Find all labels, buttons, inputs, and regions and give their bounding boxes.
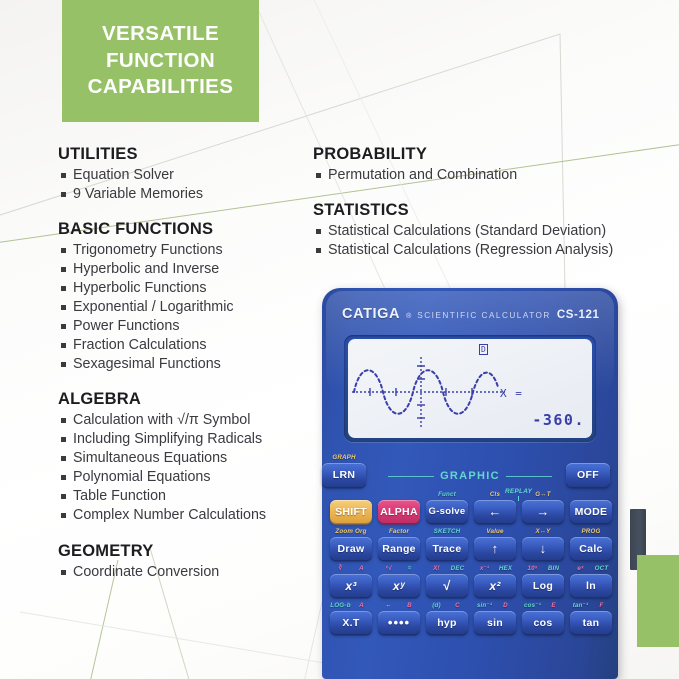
key-off-label: OFF — [577, 469, 599, 481]
dots-icon: •••• — [388, 616, 410, 629]
key-cursor-pad[interactable]: ←B •••• — [378, 611, 420, 634]
feature-item: Statistical Calculations (Standard Devia… — [313, 223, 673, 240]
feature-item: Permutation and Combination — [313, 167, 673, 184]
feature-column-right: PROBABILITY Permutation and Combination … — [313, 145, 673, 261]
feature-item: Including Simplifying Radicals — [58, 431, 308, 448]
bullet-icon — [61, 286, 66, 291]
key-oct-alpha-label: OCT — [591, 565, 612, 572]
key-sin-label: sin — [487, 617, 503, 629]
feature-item: Polynomial Equations — [58, 469, 308, 486]
key-log[interactable]: 10ˣBIN Log — [522, 574, 564, 597]
title-line-3: CAPABILITIES — [88, 74, 234, 101]
key-square-root[interactable]: X!DEC √ — [426, 574, 468, 597]
key-hyp[interactable]: (d)C hyp — [426, 611, 468, 634]
key-range-label: Range — [382, 543, 416, 555]
feature-item: Calculation with √/π Symbol — [58, 412, 308, 429]
bullet-icon — [61, 248, 66, 253]
bullet-icon — [61, 475, 66, 480]
calculator-product-photo: CATIGA ® SCIENTIFIC CALCULATOR CS-121 D … — [322, 288, 630, 679]
feature-label: Statistical Calculations (Standard Devia… — [328, 223, 606, 240]
bullet-icon — [61, 513, 66, 518]
brand-name: CATIGA — [342, 306, 400, 322]
feature-label: Sexagesimal Functions — [73, 356, 221, 373]
feature-label: Exponential / Logarithmic — [73, 299, 234, 316]
key-x-squared[interactable]: x⁻¹HEX x² — [474, 574, 516, 597]
key-lrn-shift-label: GRAPH — [322, 454, 366, 461]
key-ln-label: ln — [586, 580, 596, 592]
bullet-icon — [316, 229, 321, 234]
key-sin[interactable]: sin⁻¹D sin — [474, 611, 516, 634]
feature-item: Hyperbolic and Inverse — [58, 261, 308, 278]
feature-label: Coordinate Conversion — [73, 564, 219, 581]
feature-item: Coordinate Conversion — [58, 564, 308, 581]
feature-label: Equation Solver — [73, 167, 174, 184]
key-f-alpha-label: F — [591, 602, 612, 609]
key-back-shift-label: ← — [378, 602, 399, 609]
replay-label: REPLAY — [505, 488, 532, 495]
feature-label: Statistical Calculations (Regression Ana… — [328, 242, 613, 259]
key-shift[interactable]: SHIFT — [330, 500, 372, 523]
key-d-paren-shift-label: (d) — [426, 602, 447, 609]
key-mode[interactable]: MODE — [570, 500, 612, 523]
bullet-icon — [61, 343, 66, 348]
brand-row: CATIGA ® SCIENTIFIC CALCULATOR CS-121 — [342, 306, 599, 322]
key-reciprocal-shift-label: x⁻¹ — [474, 565, 495, 572]
section-statistics: STATISTICS Statistical Calculations (Sta… — [313, 201, 673, 259]
bullet-icon — [316, 173, 321, 178]
key-a-alpha-label: A — [351, 602, 372, 609]
feature-label: Hyperbolic Functions — [73, 280, 207, 297]
key-arcsin-shift-label: sin⁻¹ — [474, 602, 495, 609]
key-cos-label: cos — [534, 617, 553, 629]
feature-item: Exponential / Logarithmic — [58, 299, 308, 316]
feature-label: Hyperbolic and Inverse — [73, 261, 219, 278]
feature-item: Trigonometry Functions — [58, 242, 308, 259]
feature-item: Power Functions — [58, 318, 308, 335]
key-e-alpha-label: E — [543, 602, 564, 609]
bullet-icon — [61, 173, 66, 178]
key-x-power-y-label: xʸ — [393, 579, 405, 593]
feature-label: Calculation with √/π Symbol — [73, 412, 250, 429]
feature-item: Equation Solver — [58, 167, 308, 184]
feature-label: Fraction Calculations — [73, 337, 207, 354]
arrow-down-icon: ↓ — [540, 542, 547, 555]
key-g-solve-label: G-solve — [429, 506, 466, 517]
feature-item: Hyperbolic Functions — [58, 280, 308, 297]
feature-item: Simultaneous Equations — [58, 450, 308, 467]
poster-canvas: VERSATILE FUNCTION CAPABILITIES UTILITIE… — [0, 0, 679, 679]
key-d-alpha-label: D — [495, 602, 516, 609]
green-accent-block — [637, 555, 679, 647]
key-ln[interactable]: eˣOCT ln — [570, 574, 612, 597]
feature-label: Permutation and Combination — [328, 167, 517, 184]
key-xy-shift-label: X↔Y — [522, 528, 564, 535]
key-square-root-label: √ — [443, 578, 450, 593]
key-mode-label: MODE — [575, 506, 608, 518]
key-x-cubed-label: x³ — [345, 579, 356, 593]
section-probability: PROBABILITY Permutation and Combination — [313, 145, 673, 184]
keypad-row-1: GRAPH LRN OFF — [322, 463, 618, 489]
key-x-cubed[interactable]: ∛A x³ — [330, 574, 372, 597]
lcd-display[interactable]: D X = -360. — [348, 339, 592, 438]
key-range[interactable]: Factor Range — [378, 537, 420, 560]
key-x-t-label: X.T — [342, 617, 359, 629]
key-bin-alpha-label: BIN — [543, 565, 564, 572]
key-off[interactable]: OFF — [566, 463, 610, 487]
section-heading: STATISTICS — [313, 201, 673, 220]
key-g-solve[interactable]: Funct G-solve — [426, 500, 468, 523]
key-xroot-shift-label: ˣ√ — [378, 565, 399, 572]
bullet-icon — [61, 362, 66, 367]
arrow-left-icon: ← — [488, 505, 501, 518]
registered-trademark-icon: ® — [406, 313, 411, 320]
key-arrow-right[interactable]: G↔T → — [522, 500, 564, 523]
key-factorial-shift-label: X! — [426, 565, 447, 572]
key-cos[interactable]: cos⁻¹E cos — [522, 611, 564, 634]
key-x-t[interactable]: LOG▫bA X.T — [330, 611, 372, 634]
brand-subtitle: SCIENTIFIC CALCULATOR — [417, 311, 551, 320]
key-a-alpha-label: A — [351, 565, 372, 572]
bullet-icon — [316, 248, 321, 253]
key-b-alpha-label: B — [399, 602, 420, 609]
keypad-row-3: Zoom Org Draw Factor Range SKETCH Trace … — [322, 537, 618, 563]
key-e-power-shift-label: eˣ — [570, 565, 591, 572]
key-ten-power-shift-label: 10ˣ — [522, 565, 543, 572]
key-sketch-shift-label: SKETCH — [426, 528, 468, 535]
key-dec-alpha-label: DEC — [447, 565, 468, 572]
lcd-value: -360. — [532, 411, 585, 429]
feature-label: Simultaneous Equations — [73, 450, 227, 467]
feature-item: 9 Variable Memories — [58, 186, 308, 203]
section-heading: BASIC FUNCTIONS — [58, 220, 308, 239]
feature-label: Including Simplifying Radicals — [73, 431, 262, 448]
bullet-icon — [61, 305, 66, 310]
feature-label: Table Function — [73, 488, 166, 505]
feature-item: Sexagesimal Functions — [58, 356, 308, 373]
section-algebra: ALGEBRA Calculation with √/π Symbol Incl… — [58, 390, 308, 524]
lcd-bezel: D X = -360. — [344, 335, 596, 442]
bullet-icon — [61, 418, 66, 423]
feature-item: Fraction Calculations — [58, 337, 308, 354]
feature-item: Table Function — [58, 488, 308, 505]
key-arrow-up[interactable]: Value ↑ — [474, 537, 516, 560]
keypad-row-5: LOG▫bA X.T ←B •••• (d)C hyp sin⁻¹D sin c… — [322, 611, 618, 637]
key-draw[interactable]: Zoom Org Draw — [330, 537, 372, 560]
key-calc[interactable]: PROG Calc — [570, 537, 612, 560]
model-number: CS-121 — [557, 309, 600, 321]
key-arctan-shift-label: tan⁻¹ — [570, 602, 591, 609]
feature-label: Complex Number Calculations — [73, 507, 266, 524]
bullet-icon — [61, 494, 66, 499]
arrow-right-icon: → — [536, 505, 549, 518]
key-x-power-y[interactable]: ˣ√= xʸ — [378, 574, 420, 597]
bullet-icon — [61, 570, 66, 575]
section-heading: ALGEBRA — [58, 390, 308, 409]
key-draw-label: Draw — [338, 543, 365, 555]
replay-pointer-icon — [518, 496, 519, 501]
title-line-1: VERSATILE — [88, 21, 234, 48]
page-title: VERSATILE FUNCTION CAPABILITIES — [80, 21, 242, 101]
section-geometry: GEOMETRY Coordinate Conversion — [58, 542, 308, 581]
key-alpha-label: ALPHA — [380, 506, 418, 518]
key-prog-shift-label: PROG — [570, 528, 612, 535]
bullet-icon — [61, 437, 66, 442]
key-trace[interactable]: SKETCH Trace — [426, 537, 468, 560]
feature-column-left: UTILITIES Equation Solver 9 Variable Mem… — [58, 145, 308, 583]
title-line-2: FUNCTION — [88, 48, 234, 75]
key-trace-label: Trace — [433, 543, 462, 555]
title-banner: VERSATILE FUNCTION CAPABILITIES — [62, 0, 259, 122]
key-x-squared-label: x² — [489, 579, 500, 593]
bullet-icon — [61, 324, 66, 329]
bullet-icon — [61, 192, 66, 197]
key-arrow-left[interactable]: Cls ← — [474, 500, 516, 523]
key-arrow-down[interactable]: X↔Y ↓ — [522, 537, 564, 560]
key-shift-label: SHIFT — [335, 506, 367, 518]
key-lrn-label: LRN — [333, 469, 355, 481]
feature-item: Statistical Calculations (Regression Ana… — [313, 242, 673, 259]
bullet-icon — [61, 456, 66, 461]
key-range-shift-label: Factor — [378, 528, 420, 535]
key-hyp-label: hyp — [437, 617, 457, 629]
key-lrn[interactable]: GRAPH LRN — [322, 463, 366, 487]
key-calc-label: Calc — [579, 543, 602, 555]
key-equals-alpha-label: = — [399, 565, 420, 572]
keypad-row-4: ∛A x³ ˣ√= xʸ X!DEC √ x⁻¹HEX x² 10ˣBIN Lo… — [322, 574, 618, 600]
section-heading: UTILITIES — [58, 145, 308, 164]
key-g-solve-shift-label: Funct — [426, 491, 468, 498]
key-cuberoot-shift-label: ∛ — [330, 565, 351, 572]
key-hex-alpha-label: HEX — [495, 565, 516, 572]
feature-label: Polynomial Equations — [73, 469, 211, 486]
feature-label: Power Functions — [73, 318, 179, 335]
key-log-label: Log — [533, 580, 553, 592]
key-tan[interactable]: tan⁻¹F tan — [570, 611, 612, 634]
section-heading: PROBABILITY — [313, 145, 673, 164]
key-value-shift-label: Value — [474, 528, 516, 535]
bullet-icon — [61, 267, 66, 272]
key-c-alpha-label: C — [447, 602, 468, 609]
key-arccos-shift-label: cos⁻¹ — [522, 602, 543, 609]
key-alpha[interactable]: ALPHA — [378, 500, 420, 523]
arrow-up-icon: ↑ — [492, 542, 499, 555]
keypad-row-2: SHIFT ALPHA Funct G-solve Cls ← G↔T → MO… — [322, 500, 618, 526]
key-logab-shift-label: LOG▫b — [330, 602, 351, 609]
section-heading: GEOMETRY — [58, 542, 308, 561]
section-utilities: UTILITIES Equation Solver 9 Variable Mem… — [58, 145, 308, 203]
feature-label: Trigonometry Functions — [73, 242, 223, 259]
lcd-sine-wave-graph — [350, 353, 510, 431]
key-tan-label: tan — [583, 617, 600, 629]
feature-label: 9 Variable Memories — [73, 186, 203, 203]
section-basic-functions: BASIC FUNCTIONS Trigonometry Functions H… — [58, 220, 308, 373]
feature-item: Complex Number Calculations — [58, 507, 308, 524]
key-draw-shift-label: Zoom Org — [330, 528, 372, 535]
